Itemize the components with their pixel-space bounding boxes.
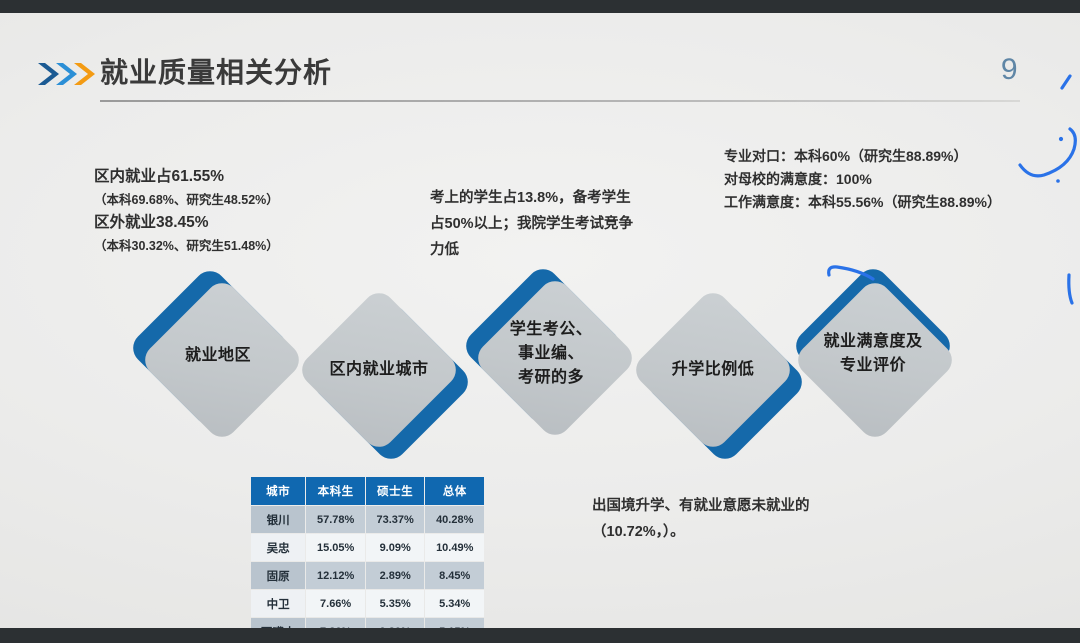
diamond-2-body (296, 287, 463, 454)
pen-mark-tick-top (1062, 76, 1070, 88)
table-row: 固原 12.12% 2.89% 8.45% (251, 562, 484, 589)
table-cell-undergrad: 12.12% (306, 562, 365, 589)
window-top-bar (0, 0, 1080, 13)
diamond-1-body (139, 277, 306, 444)
table-header-row: 城市 本科生 硕士生 总体 (251, 477, 484, 505)
table-col-header-0: 城市 (251, 477, 305, 505)
table-col-header-2: 硕士生 (366, 477, 425, 505)
title-underline-divider (100, 100, 1020, 102)
table-cell-master: 73.37% (366, 506, 425, 533)
note-middle-exam: 考上的学生占13.8%，备考学生占50%以上；我院学生考试竞争力低 (430, 185, 640, 263)
table-col-header-1: 本科生 (306, 477, 365, 505)
table-cell-undergrad: 15.05% (306, 534, 365, 561)
diamond-node-5[interactable]: 就业满意度及专业评价 (790, 271, 956, 437)
page-number: 9 (1001, 53, 1018, 87)
window-bottom-bar (0, 628, 1080, 643)
note-left-line4: （本科30.32%、研究生51.48%） (94, 235, 279, 257)
table-row: 中卫 7.66% 5.35% 5.34% (251, 590, 484, 617)
diamond-node-2[interactable]: 区内就业城市 (296, 287, 462, 453)
chevron-triple-icon (36, 58, 98, 90)
pen-dot-2 (1056, 179, 1060, 183)
table-cell-city: 石嘴山 (251, 618, 305, 628)
note-right-satisfaction: 专业对口：本科60%（研究生88.89%） 对母校的满意度：100% 工作满意度… (724, 145, 1001, 214)
table-cell-city: 固原 (251, 562, 305, 589)
pen-mark-stroke-right-lower (1069, 275, 1072, 303)
diamond-node-4[interactable]: 升学比例低 (630, 287, 796, 453)
table-row: 银川 57.78% 73.37% 40.28% (251, 506, 484, 533)
diamond-4-body (630, 287, 797, 454)
diamond-5-body (792, 277, 959, 444)
table-cell-master: 5.35% (366, 590, 425, 617)
table-col-header-3: 总体 (425, 477, 484, 505)
table-cell-master: 9.30% (366, 618, 425, 628)
pen-mark-bracket-right (1020, 129, 1075, 176)
table-cell-undergrad: 57.78% (306, 506, 365, 533)
table-cell-total: 40.28% (425, 506, 484, 533)
table-row: 石嘴山 7.36% 9.30% 5.15% (251, 618, 484, 628)
table-cell-city: 银川 (251, 506, 305, 533)
diamond-node-3[interactable]: 学生考公、事业编、考研的多 (468, 271, 634, 437)
table-cell-city: 吴忠 (251, 534, 305, 561)
table-cell-city: 中卫 (251, 590, 305, 617)
note-left-line1: 区内就业占61.55% (94, 165, 279, 189)
table-cell-total: 10.49% (425, 534, 484, 561)
table-row: 吴忠 15.05% 9.09% 10.49% (251, 534, 484, 561)
table-cell-master: 2.89% (366, 562, 425, 589)
note-bottom-unemployed: 出国境升学、有就业意愿未就业的（10.72%，）。 (592, 493, 817, 545)
note-left-region-employment: 区内就业占61.55% （本科69.68%、研究生48.52%） 区外就业38.… (94, 165, 279, 257)
diamond-node-1[interactable]: 就业地区 (135, 273, 301, 439)
note-left-line3: 区外就业38.45% (94, 211, 279, 235)
note-left-line2: （本科69.68%、研究生48.52%） (94, 189, 279, 211)
table-cell-undergrad: 7.66% (306, 590, 365, 617)
table-cell-total: 8.45% (425, 562, 484, 589)
table-cell-master: 9.09% (366, 534, 425, 561)
slide-canvas: 就业质量相关分析 9 区内就业占61.55% （本科69.68%、研究生48.5… (0, 13, 1080, 628)
table-cell-undergrad: 7.36% (306, 618, 365, 628)
diamond-3-body (472, 275, 639, 442)
table-cell-total: 5.34% (425, 590, 484, 617)
pen-dot-1 (1059, 137, 1063, 141)
page-title: 就业质量相关分析 (100, 51, 332, 91)
note-right-line2: 对母校的满意度：100% (724, 168, 1001, 191)
note-right-line1: 专业对口：本科60%（研究生88.89%） (724, 145, 1001, 168)
table-cell-total: 5.15% (425, 618, 484, 628)
note-right-line3: 工作满意度：本科55.56%（研究生88.89%） (724, 191, 1001, 214)
city-employment-table[interactable]: 城市 本科生 硕士生 总体 银川 57.78% 73.37% 40.28% 吴忠… (250, 476, 485, 628)
